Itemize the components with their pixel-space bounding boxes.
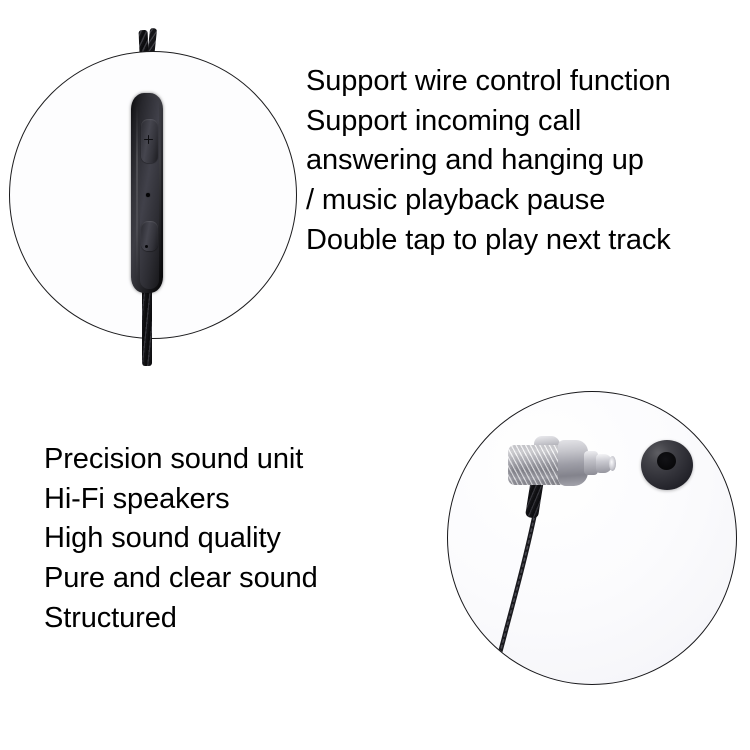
feature-line: Structured: [44, 599, 318, 639]
feature-line: High sound quality: [44, 519, 318, 559]
remote-edge-highlight-left: [136, 105, 138, 281]
feature-line: Hi-Fi speakers: [44, 480, 318, 520]
feature-line: Support incoming call: [306, 102, 671, 142]
ear-tip-bore: [657, 452, 676, 470]
feature-line: answering and hanging up: [306, 141, 671, 181]
volume-down-button: [141, 221, 158, 251]
feature-line: Pure and clear sound: [44, 559, 318, 599]
sound-nozzle-tip: [609, 456, 616, 471]
braided-cable-lower-strand: [142, 288, 152, 366]
earbud-photo: [447, 391, 737, 685]
feature-line: Support wire control function: [306, 62, 671, 102]
metallic-earbud-housing: [508, 434, 628, 496]
inline-remote-control-body: [131, 93, 163, 293]
feature-list-sound-quality: Precision sound unit Hi-Fi speakers High…: [44, 440, 318, 639]
feature-line: / music playback pause: [306, 181, 671, 221]
earbud-spiral-textured-barrel: [508, 445, 564, 485]
remote-edge-highlight-right: [159, 107, 161, 279]
microphone-hole-icon: [146, 193, 150, 197]
plus-icon: [144, 135, 153, 144]
feature-line: Double tap to play next track: [306, 221, 671, 261]
black-silicone-ear-tip: [641, 440, 693, 490]
feature-list-wire-control: Support wire control function Support in…: [306, 62, 671, 261]
feature-line: Precision sound unit: [44, 440, 318, 480]
infographic-canvas: Support wire control function Support in…: [0, 0, 750, 750]
